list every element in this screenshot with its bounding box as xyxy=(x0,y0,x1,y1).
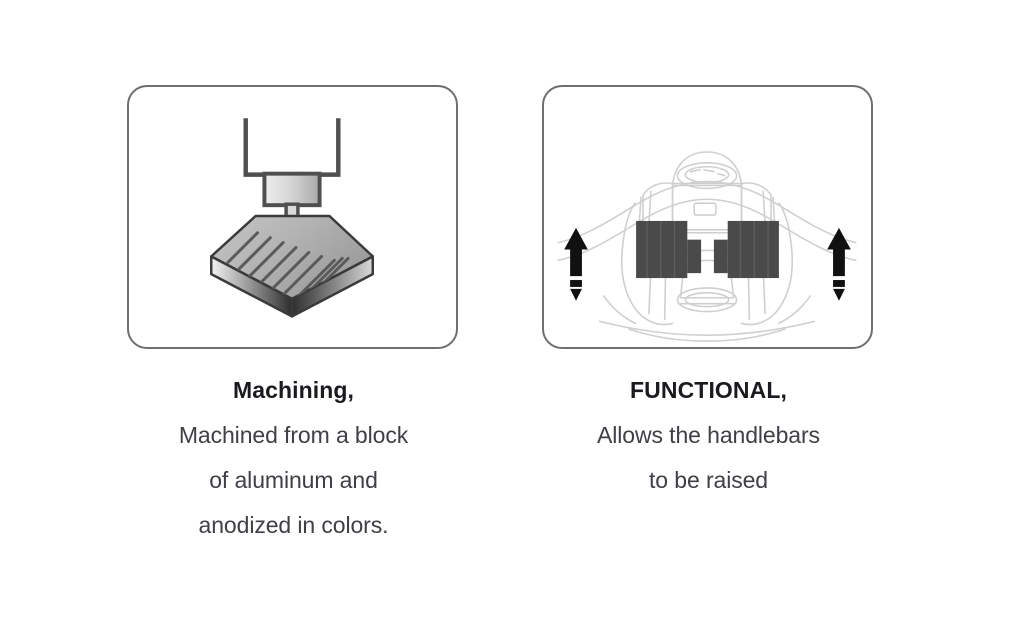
feature-card-machining: Machining, Machined from a block of alum… xyxy=(127,85,460,548)
feature-title-machining: Machining, xyxy=(127,375,460,405)
feature-cards-page: Machining, Machined from a block of alum… xyxy=(0,0,1024,626)
feature-card-functional: FUNCTIONAL, Allows the handlebars to be … xyxy=(542,85,875,503)
description-line: anodized in colors. xyxy=(127,503,460,548)
feature-text-machining: Machining, Machined from a block of alum… xyxy=(127,375,460,548)
feature-description-functional: Allows the handlebars to be raised xyxy=(542,413,875,503)
handlebar-riser-icon xyxy=(544,87,871,347)
description-line: Machined from a block xyxy=(127,413,460,458)
icon-card-functional xyxy=(542,85,873,349)
feature-description-machining: Machined from a block of aluminum and an… xyxy=(127,413,460,548)
feature-title-functional: FUNCTIONAL, xyxy=(542,375,875,405)
spindle-collar xyxy=(264,174,319,206)
cnc-milling-machine-icon xyxy=(129,87,456,347)
icon-card-machining xyxy=(127,85,458,349)
description-line: of aluminum and xyxy=(127,458,460,503)
description-line: Allows the handlebars xyxy=(542,413,875,458)
spindle-bracket xyxy=(246,120,339,174)
description-line: to be raised xyxy=(542,458,875,503)
arrow-up-right-icon xyxy=(827,228,851,301)
workpiece-block xyxy=(211,216,373,316)
arrow-up-left-icon xyxy=(564,228,588,301)
feature-text-functional: FUNCTIONAL, Allows the handlebars to be … xyxy=(542,375,875,503)
